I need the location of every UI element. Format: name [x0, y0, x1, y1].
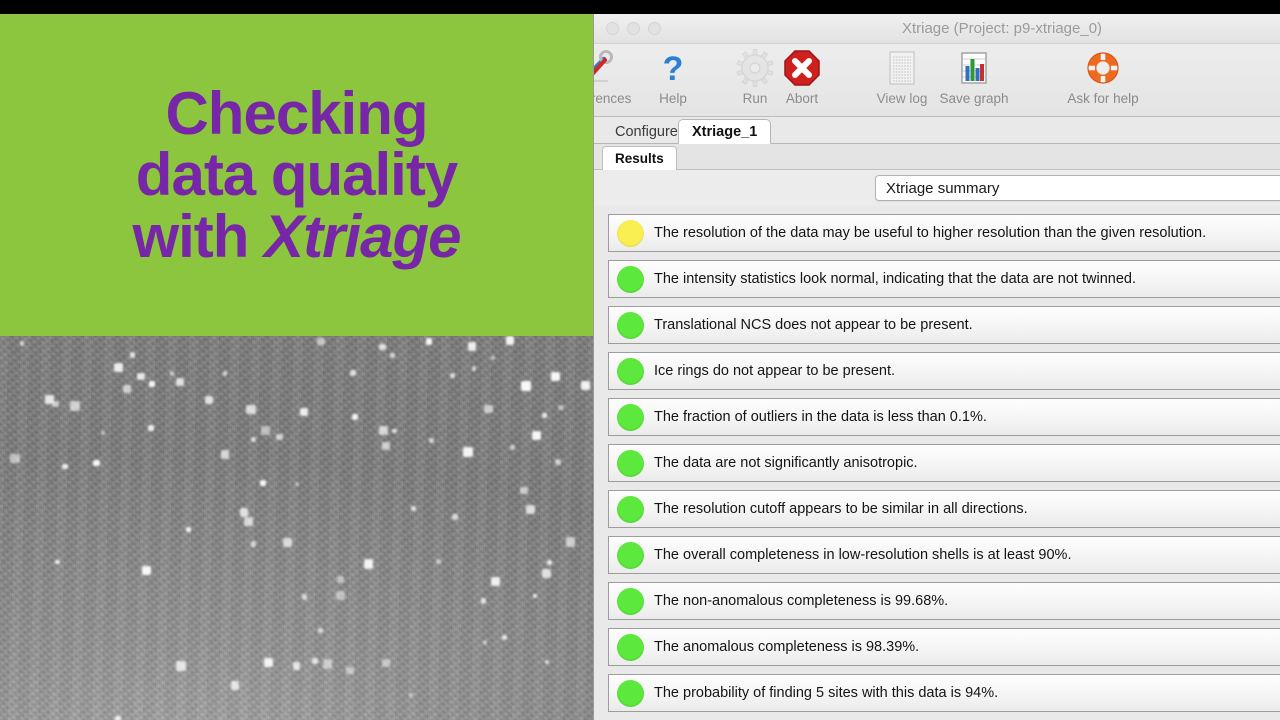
status-dot-green — [617, 588, 644, 615]
diffraction-spot — [148, 425, 154, 431]
result-row[interactable]: The anomalous completeness is 98.39%. — [608, 628, 1280, 666]
diffraction-spot — [300, 408, 309, 417]
diffraction-spot — [251, 541, 257, 547]
life-ring-icon — [1057, 46, 1149, 90]
diffraction-spot — [317, 338, 324, 345]
result-text: The resolution cutoff appears to be simi… — [654, 501, 1028, 517]
results-list: The resolution of the data may be useful… — [594, 206, 1280, 720]
bar-chart-icon — [928, 46, 1020, 90]
diffraction-spot — [115, 716, 121, 720]
title-line-3-prefix: with — [132, 203, 264, 270]
status-dot-green — [617, 496, 644, 523]
result-text: The resolution of the data may be useful… — [654, 225, 1206, 241]
diffraction-spot — [318, 628, 323, 633]
diffraction-spot — [221, 450, 229, 458]
diffraction-spot — [55, 560, 59, 564]
diffraction-spot — [532, 431, 541, 440]
status-dot-green — [617, 680, 644, 707]
status-dot-green — [617, 450, 644, 477]
diffraction-spot — [93, 460, 100, 467]
diffraction-spot — [142, 566, 151, 575]
result-row[interactable]: The probability of finding 5 sites with … — [608, 674, 1280, 712]
status-dot-yellow — [617, 220, 644, 247]
diffraction-spot — [481, 598, 486, 603]
diffraction-spot — [264, 658, 273, 667]
window-title: Xtriage (Project: p9-xtriage_0) — [594, 20, 1280, 37]
diffraction-spot — [130, 352, 135, 357]
diffraction-spot — [390, 353, 395, 358]
diffraction-spot — [276, 434, 282, 440]
diffraction-spot — [302, 594, 308, 600]
result-text: Translational NCS does not appear to be … — [654, 317, 973, 333]
title-line-2: data quality — [136, 144, 457, 205]
toolbar-button-help[interactable]: ? Help — [627, 46, 719, 106]
toolbar-button-abort[interactable]: Abort — [756, 46, 848, 106]
diffraction-spot — [123, 385, 131, 393]
question-mark-icon: ? — [627, 46, 719, 90]
result-text: The anomalous completeness is 98.39%. — [654, 639, 919, 655]
diffraction-spot — [558, 405, 564, 411]
toolbar-button-label: Abort — [756, 91, 848, 106]
result-text: The intensity statistics look normal, in… — [654, 271, 1136, 287]
diffraction-spot — [510, 445, 515, 450]
diffraction-spot — [429, 438, 433, 442]
result-text: The data are not significantly anisotrop… — [654, 455, 918, 471]
diffraction-spot — [502, 635, 507, 640]
diffraction-spot — [312, 658, 318, 664]
diffraction-spot — [283, 538, 292, 547]
stop-octagon-icon — [756, 46, 848, 90]
toolbar-button-label: Help — [627, 91, 719, 106]
result-text: The probability of finding 5 sites with … — [654, 685, 998, 701]
diffraction-spot — [382, 442, 390, 450]
diffraction-spot — [411, 506, 415, 510]
diffraction-spot — [149, 381, 155, 387]
diffraction-spot — [491, 577, 501, 587]
diffraction-spot — [62, 464, 68, 470]
slide-left-panel: Checking data quality with Xtriage — [0, 14, 593, 720]
diffraction-spot — [472, 366, 476, 370]
diffraction-spot — [70, 401, 79, 410]
diffraction-spot — [240, 508, 249, 517]
window-titlebar: Xtriage (Project: p9-xtriage_0) — [594, 14, 1280, 44]
diffraction-spot — [170, 371, 175, 376]
status-dot-green — [617, 404, 644, 431]
diffraction-spot — [382, 659, 390, 667]
result-text: The non-anomalous completeness is 99.68%… — [654, 593, 948, 609]
status-dot-green — [617, 266, 644, 293]
diffraction-spot — [526, 505, 535, 514]
title-line-1: Checking — [165, 83, 427, 144]
diffraction-spot — [379, 344, 386, 351]
diffraction-spot — [114, 363, 123, 372]
diffraction-spot — [581, 381, 590, 390]
diffraction-spot — [45, 395, 54, 404]
result-row[interactable]: The resolution cutoff appears to be simi… — [608, 490, 1280, 528]
diffraction-spot — [450, 373, 455, 378]
diffraction-spot — [205, 396, 213, 404]
tab-xtriage_1[interactable]: Xtriage_1 — [678, 119, 771, 144]
main-toolbar: Preferences ? Help Run Abort View log Sa… — [594, 44, 1280, 117]
diffraction-spot — [484, 405, 492, 413]
result-row[interactable]: Translational NCS does not appear to be … — [608, 306, 1280, 344]
status-dot-green — [617, 358, 644, 385]
top-letterbox-band — [0, 0, 1280, 14]
diffraction-spot — [20, 341, 24, 345]
diffraction-spot — [346, 667, 353, 674]
diffraction-spot — [506, 336, 514, 344]
diffraction-spot — [293, 662, 300, 669]
result-row[interactable]: The overall completeness in low-resoluti… — [608, 536, 1280, 574]
diffraction-spot — [244, 517, 253, 526]
diffraction-spot — [251, 437, 255, 441]
summary-select[interactable]: Xtriage summary — [875, 175, 1280, 201]
result-row[interactable]: The data are not significantly anisotrop… — [608, 444, 1280, 482]
diffraction-spot — [364, 559, 373, 568]
slide-title-card: Checking data quality with Xtriage — [0, 14, 593, 336]
status-dot-green — [617, 312, 644, 339]
title-line-3: with Xtriage — [132, 206, 460, 267]
diffraction-spot — [261, 426, 270, 435]
toolbar-button-label: Save graph — [928, 91, 1020, 106]
secondary-tab-bar: Results — [594, 144, 1280, 170]
diffraction-spot — [392, 429, 396, 433]
toolbar-button-label: Ask for help — [1057, 91, 1149, 106]
diffraction-spot — [566, 537, 576, 547]
result-row[interactable]: The intensity statistics look normal, in… — [608, 260, 1280, 298]
diffraction-spot — [452, 514, 458, 520]
diffraction-spot — [555, 459, 561, 465]
diffraction-spot — [337, 576, 345, 584]
diffraction-spot — [379, 426, 388, 435]
diffraction-spot — [176, 661, 186, 671]
diffraction-spot — [223, 371, 228, 376]
result-row[interactable]: Ice rings do not appear to be present. — [608, 352, 1280, 390]
result-row[interactable]: The non-anomalous completeness is 99.68%… — [608, 582, 1280, 620]
tab-results[interactable]: Results — [602, 146, 677, 170]
status-dot-green — [617, 634, 644, 661]
result-text: Ice rings do not appear to be present. — [654, 363, 895, 379]
diffraction-spot — [246, 405, 256, 415]
diffraction-spot — [10, 454, 19, 463]
diffraction-spot — [542, 413, 547, 418]
diffraction-spot — [521, 381, 531, 391]
diffraction-spot — [186, 527, 190, 531]
diffraction-spot — [551, 372, 560, 381]
diffraction-spot — [547, 560, 552, 565]
result-text: The overall completeness in low-resoluti… — [654, 547, 1071, 563]
slide-canvas: Checking data quality with Xtriage Xtria… — [0, 0, 1280, 720]
svg-text:?: ? — [663, 50, 684, 88]
result-row[interactable]: The resolution of the data may be useful… — [608, 214, 1280, 252]
diffraction-spot — [336, 591, 345, 600]
diffraction-spot — [137, 373, 145, 381]
toolbar-button-save-graph[interactable]: Save graph — [928, 46, 1020, 106]
diffraction-spot — [260, 480, 265, 485]
primary-tab-bar: ConfigureXtriage_1 — [594, 117, 1280, 144]
diffraction-spot — [483, 640, 488, 645]
result-row[interactable]: The fraction of outliers in the data is … — [608, 398, 1280, 436]
diffraction-spot — [542, 569, 551, 578]
status-dot-green — [617, 542, 644, 569]
diffraction-spot — [468, 342, 476, 350]
diffraction-spot — [463, 447, 472, 456]
diffraction-spot — [231, 681, 240, 690]
diffraction-spot — [323, 659, 333, 669]
diffraction-spot — [350, 370, 356, 376]
xtriage-app-window: Xtriage (Project: p9-xtriage_0) Preferen… — [593, 14, 1280, 720]
diffraction-spot — [436, 559, 441, 564]
toolbar-button-ask-for-help[interactable]: Ask for help — [1057, 46, 1149, 106]
diffraction-image — [0, 336, 593, 720]
result-text: The fraction of outliers in the data is … — [654, 409, 987, 425]
diffraction-spot — [520, 487, 528, 495]
title-emphasis-xtriage: Xtriage — [264, 203, 460, 270]
diffraction-spot — [176, 378, 184, 386]
diffraction-spot — [426, 338, 433, 345]
summary-select-bar: Xtriage summary — [594, 170, 1280, 206]
